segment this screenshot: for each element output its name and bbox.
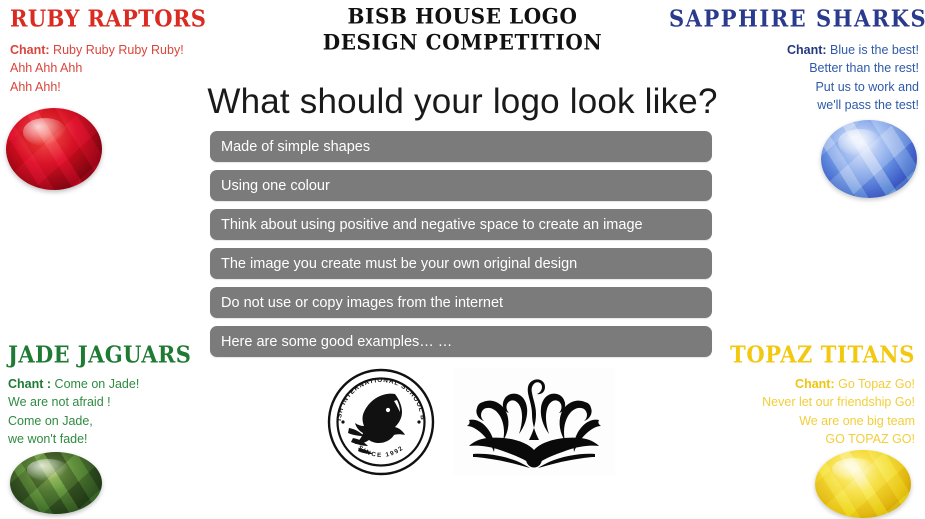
gem-highlight [23,118,67,146]
chant-lead: Chant: [787,43,827,57]
list-item: Here are some good examples… … [210,326,712,357]
list-item: Think about using positive and negative … [210,209,712,240]
chant-text: Go Topaz Go! [835,377,915,391]
chant-line: GO TOPAZ GO! [675,430,915,448]
chant-text: Ruby Ruby Ruby Ruby! [50,43,184,57]
house-title-sapphire: SAPPHIRE SHARKS [669,4,919,32]
house-chant-sapphire: Chant: Blue is the best! Better than the… [669,41,919,114]
house-block-ruby: RUBY RAPTORS Chant: Ruby Ruby Ruby Ruby!… [10,4,240,96]
house-title-topaz: TOPAZ TITANS [675,340,915,368]
house-chant-jade: Chant : Come on Jade! We are not afraid … [8,375,228,448]
chant-lead: Chant: [10,43,50,57]
sapphire-gem-icon [821,120,917,198]
bullet-list: Made of simple shapes Using one colour T… [210,131,712,365]
chant-line: Never let our friendship Go! [675,393,915,411]
chant-lead: Chant: [795,377,835,391]
slide-canvas: BISB HOUSE LOGO DESIGN COMPETITION What … [0,0,925,519]
bullet-label: Made of simple shapes [221,139,370,155]
crown-book-logo-icon [453,368,615,476]
chant-line: Chant: Blue is the best! [669,41,919,59]
house-block-jade: JADE JAGUARS Chant : Come on Jade! We ar… [8,340,228,448]
bullet-label: Think about using positive and negative … [221,217,643,233]
house-title-ruby: RUBY RAPTORS [10,4,240,32]
chant-line: Chant: Go Topaz Go! [675,375,915,393]
gem-highlight [27,459,69,480]
chant-line: We are one big team [675,412,915,430]
house-chant-ruby: Chant: Ruby Ruby Ruby Ruby! Ahh Ahh Ahh … [10,41,240,96]
ruby-gem-icon [6,108,102,190]
chant-line: Chant: Ruby Ruby Ruby Ruby! [10,41,240,59]
list-item: Using one colour [210,170,712,201]
chant-line: Come on Jade, [8,412,228,430]
deck-title-line1: BISB HOUSE LOGO [348,3,578,29]
chant-line: Ahh Ahh Ahh [10,59,240,77]
chant-lead: Chant : [8,377,51,391]
topaz-gem-icon [815,450,911,518]
chant-line: Put us to work and [669,78,919,96]
chant-text: Come on Jade! [51,377,139,391]
chant-line: we'll pass the test! [669,96,919,114]
list-item: Do not use or copy images from the inter… [210,287,712,318]
house-block-topaz: TOPAZ TITANS Chant: Go Topaz Go! Never l… [675,340,915,448]
jade-gem-icon [10,452,102,514]
bullet-label: Do not use or copy images from the inter… [221,295,503,311]
house-block-sapphire: SAPPHIRE SHARKS Chant: Blue is the best!… [669,4,919,114]
bullet-label: The image you create must be your own or… [221,256,577,272]
house-chant-topaz: Chant: Go Topaz Go! Never let our friend… [675,375,915,448]
example-logos: THE BRITISH INTERNATIONAL SCHOOL BUDAPES… [325,366,625,484]
chant-line: Chant : Come on Jade! [8,375,228,393]
chant-text: Blue is the best! [827,43,919,57]
house-title-jade: JADE JAGUARS [8,340,228,368]
chant-line: Better than the rest! [669,59,919,77]
gem-highlight [838,129,882,156]
bullet-label: Here are some good examples… … [221,334,452,350]
chant-line: Ahh Ahh! [10,78,240,96]
list-item: The image you create must be your own or… [210,248,712,279]
chant-line: We are not afraid ! [8,393,228,411]
chant-line: we won't fade! [8,430,228,448]
list-item: Made of simple shapes [210,131,712,162]
bisb-wolf-logo-icon: THE BRITISH INTERNATIONAL SCHOOL BUDAPES… [325,366,437,478]
bullet-label: Using one colour [221,178,330,194]
